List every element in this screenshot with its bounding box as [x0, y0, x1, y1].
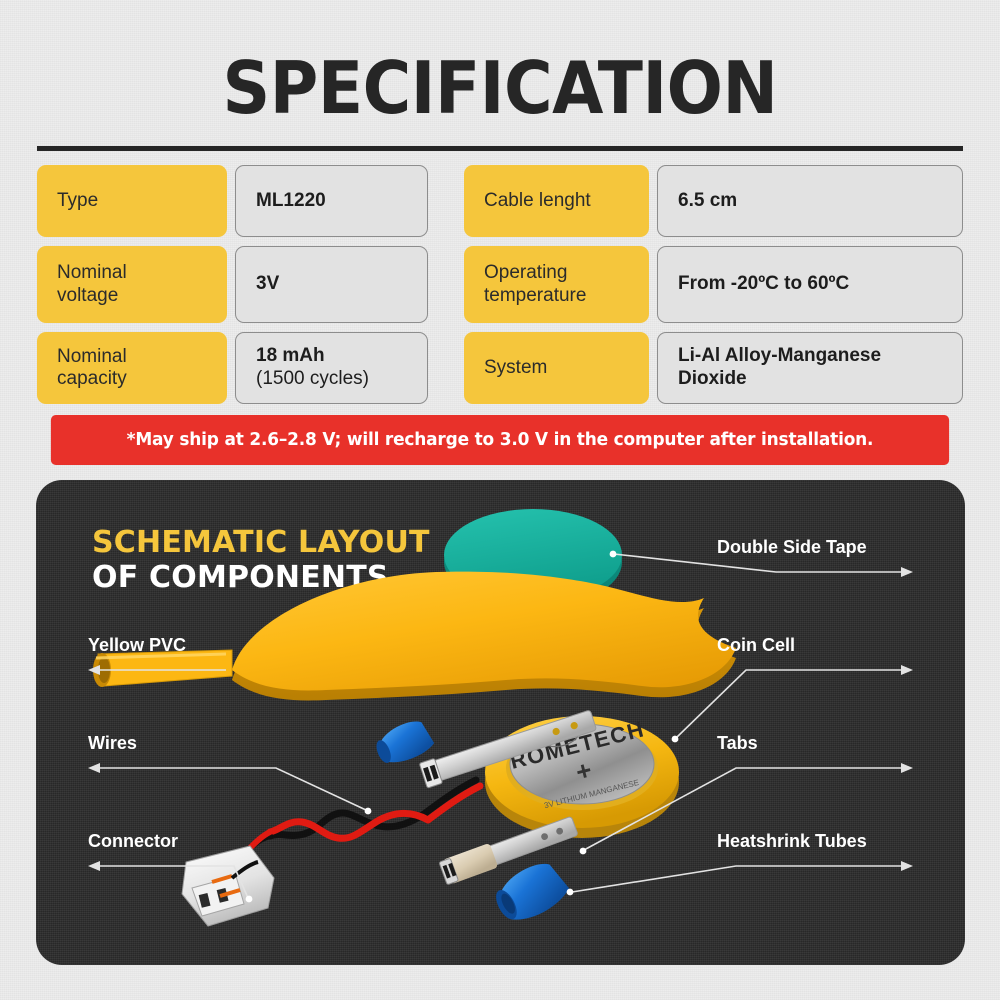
- spec-value-nominal-capacity: 18 mAh (1500 cycles): [235, 332, 428, 404]
- spec-value-nominal-voltage: 3V: [235, 246, 428, 323]
- spec-value-operating-temperature: From -20ºC to 60ºC: [657, 246, 963, 323]
- spec-label-text: Operating temperature: [484, 262, 586, 307]
- gap: [227, 165, 235, 237]
- spec-value-type: ML1220: [235, 165, 428, 237]
- capacity-value: 18 mAh: [256, 345, 369, 368]
- gap: [649, 246, 657, 323]
- callout-heatshrink-tubes: Heatshrink Tubes: [717, 831, 867, 852]
- spec-label-type: Type: [37, 165, 227, 237]
- spec-label-text: Nominal voltage: [57, 262, 127, 307]
- specification-table: Type ML1220 Cable lenght 6.5 cm Nominal …: [37, 165, 963, 404]
- capacity-cycles: (1500 cycles): [256, 368, 369, 391]
- gap: [428, 332, 464, 404]
- spec-label-cable-length: Cable lenght: [464, 165, 649, 237]
- spec-label-nominal-capacity: Nominal capacity: [37, 332, 227, 404]
- page-title: SPECIFICATION: [40, 0, 960, 124]
- gap: [227, 332, 235, 404]
- spec-label-nominal-voltage: Nominal voltage: [37, 246, 227, 323]
- infographic-page: SPECIFICATION Type ML1220 Cable lenght 6…: [0, 0, 1000, 1000]
- gap: [649, 332, 657, 404]
- gap: [227, 246, 235, 323]
- title-divider: [37, 146, 963, 151]
- heatshrink-tube-lower-graphic: [489, 855, 574, 929]
- shipping-notice-banner: *May ship at 2.6–2.8 V; will recharge to…: [51, 415, 949, 465]
- yellow-pvc-graphic: [93, 572, 736, 701]
- gap: [428, 246, 464, 323]
- spec-label-system: System: [464, 332, 649, 404]
- callout-yellow-pvc: Yellow PVC: [88, 635, 186, 656]
- spec-value-cable-length: 6.5 cm: [657, 165, 963, 237]
- callout-coin-cell: Coin Cell: [717, 635, 795, 656]
- spec-label-operating-temperature: Operating temperature: [464, 246, 649, 323]
- wires-graphic: [248, 780, 480, 850]
- spec-label-text: Nominal capacity: [57, 346, 127, 391]
- callout-tabs: Tabs: [717, 733, 758, 754]
- gap: [649, 165, 657, 237]
- callout-connector: Connector: [88, 831, 178, 852]
- callout-double-side-tape: Double Side Tape: [717, 537, 867, 558]
- gap: [428, 165, 464, 237]
- callout-wires: Wires: [88, 733, 137, 754]
- schematic-panel: SCHEMATIC LAYOUT OF COMPONENTS: [36, 480, 965, 965]
- connector-graphic: [182, 846, 274, 926]
- spec-value-system: Li-Al Alloy-Manganese Dioxide: [657, 332, 963, 404]
